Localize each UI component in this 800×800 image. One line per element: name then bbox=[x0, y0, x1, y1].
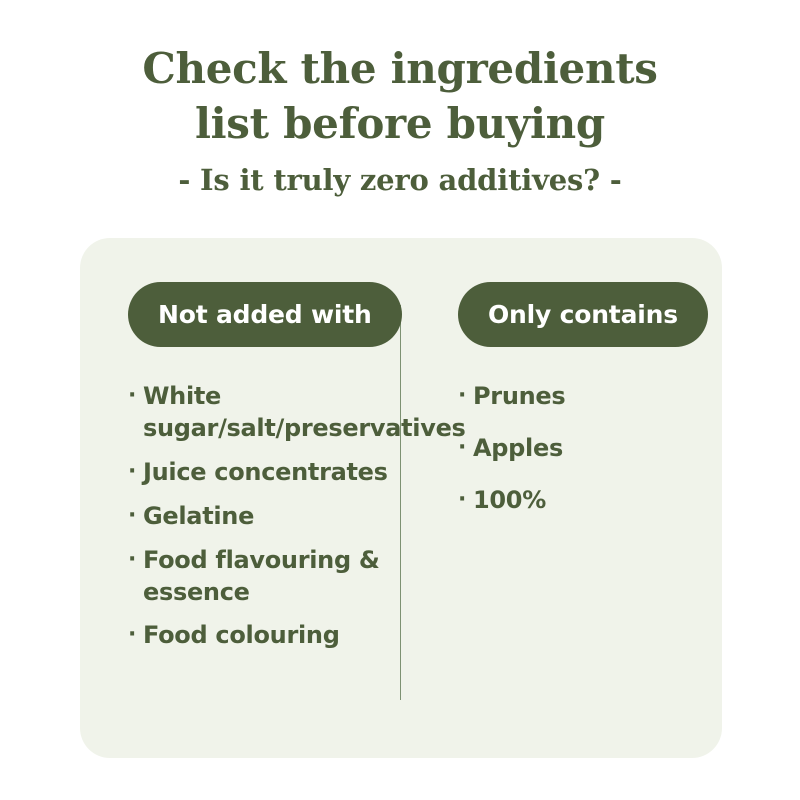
list-item-label: 100% bbox=[473, 485, 693, 517]
list-item-label: Prunes bbox=[473, 381, 693, 413]
only-contains-badge: Only contains bbox=[458, 282, 708, 347]
not-added-column: Not added with · White sugar/salt/preser… bbox=[80, 238, 400, 758]
list-item: · Food flavouring & essence bbox=[128, 545, 400, 609]
list-item-label: Gelatine bbox=[143, 501, 393, 533]
bullet-icon: · bbox=[458, 485, 473, 514]
not-added-with-badge: Not added with bbox=[128, 282, 402, 347]
list-item: · Apples bbox=[458, 433, 722, 465]
bullet-icon: · bbox=[128, 381, 143, 410]
bullet-icon: · bbox=[128, 501, 143, 530]
list-item-label: Food colouring bbox=[143, 620, 393, 652]
page-subtitle: - Is it truly zero additives? - bbox=[0, 162, 800, 198]
list-item: · White sugar/salt/preservatives bbox=[128, 381, 400, 445]
list-item-label: Apples bbox=[473, 433, 693, 465]
list-item: · Food colouring bbox=[128, 620, 400, 652]
list-item: · Juice concentrates bbox=[128, 457, 400, 489]
list-item: · 100% bbox=[458, 485, 722, 517]
list-item: · Gelatine bbox=[128, 501, 400, 533]
list-item-label: Juice concentrates bbox=[143, 457, 393, 489]
list-item-label: White sugar/salt/preservatives bbox=[143, 381, 393, 445]
ingredients-infographic: Check the ingredients list before buying… bbox=[0, 0, 800, 800]
comparison-columns: Not added with · White sugar/salt/preser… bbox=[80, 238, 722, 758]
only-contains-list: · Prunes · Apples · 100% bbox=[458, 381, 722, 517]
bullet-icon: · bbox=[458, 433, 473, 462]
bullet-icon: · bbox=[128, 545, 143, 574]
list-item-label: Food flavouring & essence bbox=[143, 545, 393, 609]
heading-block: Check the ingredients list before buying… bbox=[0, 42, 800, 198]
page-title-line-1: Check the ingredients bbox=[0, 42, 800, 97]
page-title: Check the ingredients list before buying bbox=[0, 42, 800, 151]
bullet-icon: · bbox=[128, 457, 143, 486]
list-item: · Prunes bbox=[458, 381, 722, 413]
bullet-icon: · bbox=[458, 381, 473, 410]
only-contains-column: Only contains · Prunes · Apples · 100% bbox=[400, 238, 722, 758]
not-added-list: · White sugar/salt/preservatives · Juice… bbox=[128, 381, 400, 652]
comparison-card: Not added with · White sugar/salt/preser… bbox=[80, 238, 722, 758]
bullet-icon: · bbox=[128, 620, 143, 649]
page-title-line-2: list before buying bbox=[0, 97, 800, 152]
